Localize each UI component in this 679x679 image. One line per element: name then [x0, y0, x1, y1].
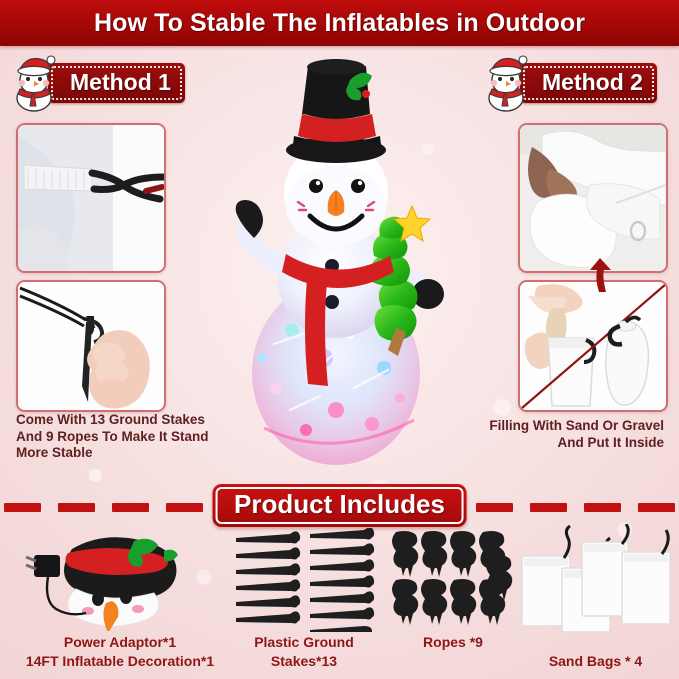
method-2-label: Method 2: [542, 69, 643, 96]
product-includes-plate: Product Includes: [212, 484, 467, 527]
ground-stakes-label-line1: Plastic Ground: [218, 633, 390, 652]
infographic-page: How To Stable The Inflatables in Outdoor…: [0, 0, 679, 679]
ground-stakes-label-line2: Stakes*13: [218, 652, 390, 671]
sand-bags-image: [520, 524, 676, 632]
hands-with-sand-bags-photo: [518, 123, 668, 273]
page-title-banner: How To Stable The Inflatables in Outdoor: [0, 0, 679, 46]
sand-bags-label: Sand Bags * 4: [512, 652, 679, 671]
method-1-caption: Come With 13 Ground Stakes And 9 Ropes T…: [16, 412, 226, 462]
filling-sand-bag-photo: [518, 280, 668, 412]
power-adaptor-label-line2: 14FT Inflatable Decoration*1: [0, 652, 240, 671]
hand-holding-ground-stake-photo: [16, 280, 166, 412]
page-title: How To Stable The Inflatables in Outdoor: [94, 9, 585, 38]
ropes-image: [392, 530, 514, 628]
power-adaptor-label: Power Adaptor*1 14FT Inflatable Decorati…: [0, 633, 240, 671]
method-2-plate: Method 2: [520, 63, 657, 103]
method-1-plate: Method 1: [48, 63, 185, 103]
ground-stakes-label: Plastic Ground Stakes*13: [218, 633, 390, 671]
method-2-header: Method 2: [478, 52, 657, 114]
ropes-label: Ropes *9: [386, 633, 520, 652]
method-2-caption: Filling With Sand Or Gravel And Put It I…: [460, 418, 664, 451]
method-1-label: Method 1: [70, 69, 171, 96]
product-includes-title: Product Includes: [234, 489, 445, 520]
plastic-ground-stakes-image: [232, 528, 378, 632]
left-dash-decoration: [4, 503, 203, 512]
snowman-icon: [478, 54, 534, 112]
product-includes-banner: Product Includes: [0, 484, 679, 528]
snowman-icon: [6, 54, 62, 112]
power-adaptor-label-line1: Power Adaptor*1: [0, 633, 240, 652]
up-arrow-icon: [586, 258, 620, 292]
right-dash-decoration: [476, 503, 675, 512]
method-1-header: Method 1: [6, 52, 185, 114]
strap-with-rope-photo: [16, 123, 166, 273]
inflatable-snowman-image: [214, 58, 474, 478]
power-adaptor-and-decoration-image: [12, 527, 198, 631]
